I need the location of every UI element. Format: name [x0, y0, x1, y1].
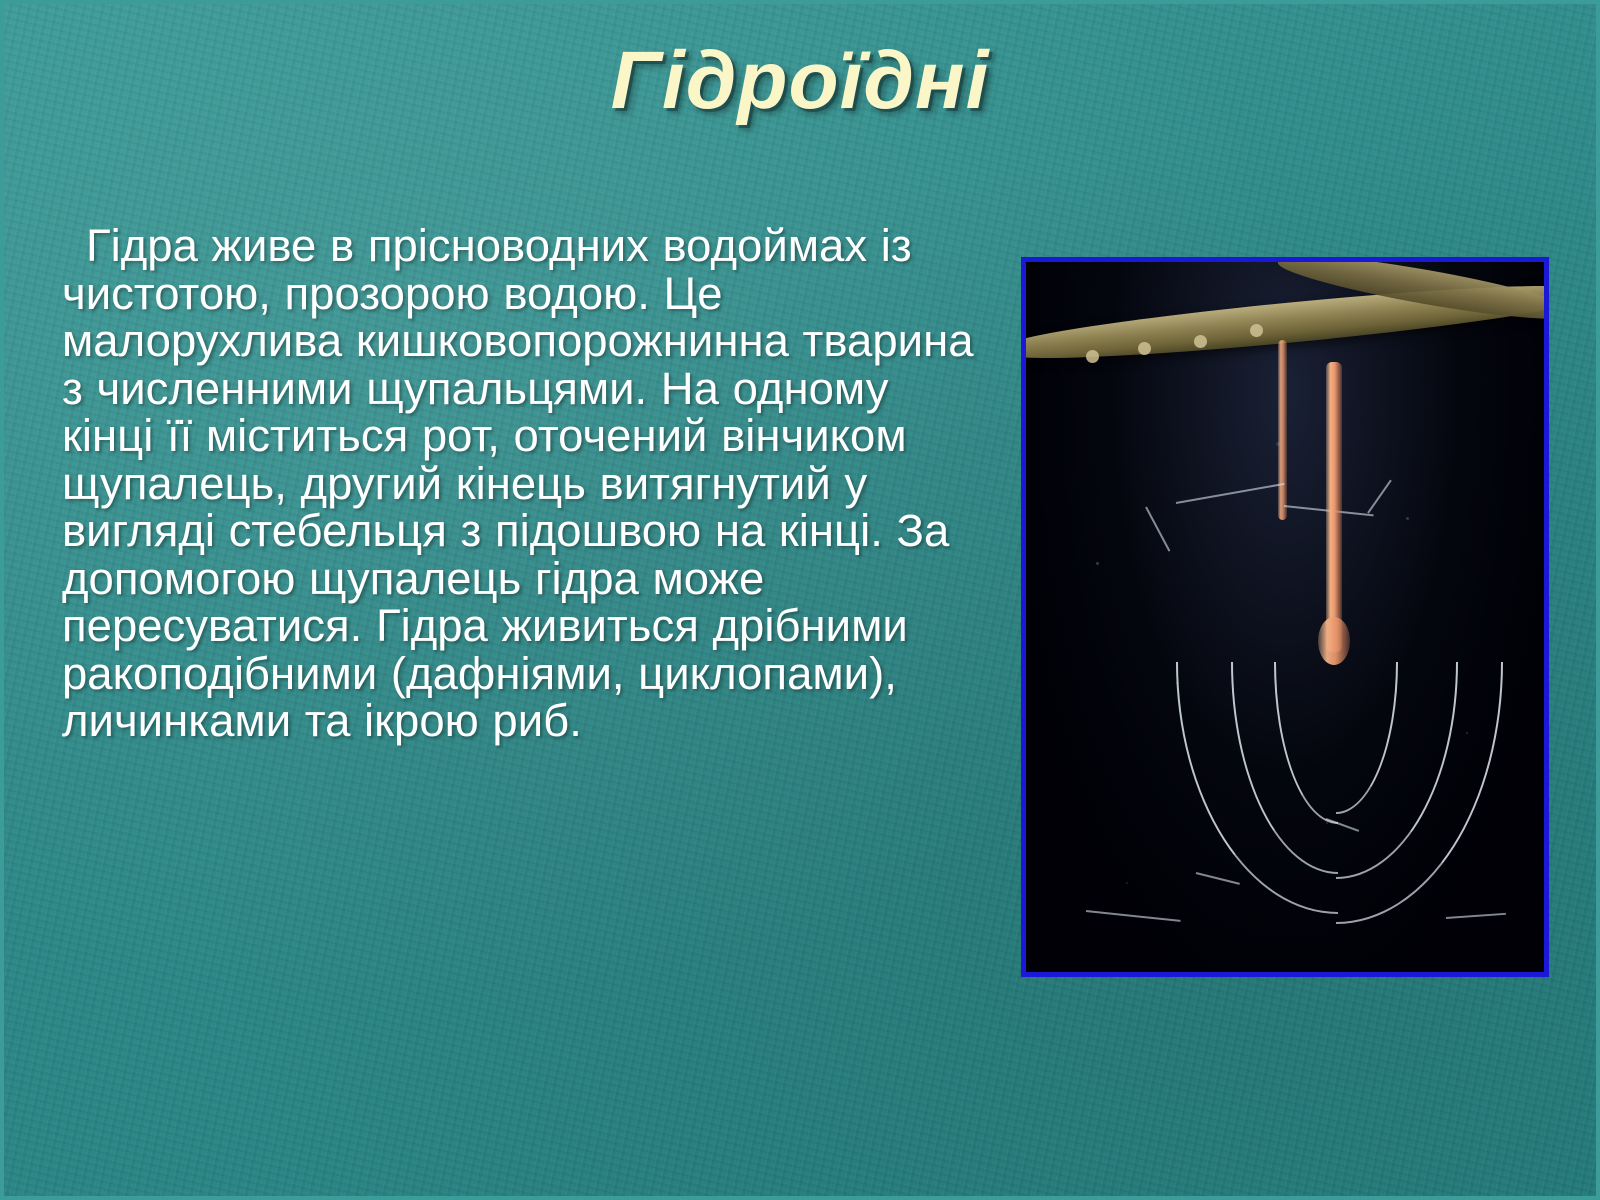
speck: [1126, 882, 1128, 884]
hydra-tentacle-tip: [1446, 913, 1506, 919]
hydra-photograph: [1026, 262, 1544, 972]
branch-nub: [1138, 342, 1151, 355]
hydra-main-base: [1318, 617, 1350, 665]
hydra-main-stalk: [1326, 362, 1342, 652]
presentation-slide: Гідроїдні Гідра живе в прісноводних водо…: [0, 0, 1600, 1200]
hydra-left-tentacle: [1145, 507, 1170, 552]
hydra-tentacle-tip: [1196, 872, 1240, 885]
hydra-tentacle: [1336, 662, 1503, 924]
hydra-left-tentacle: [1367, 480, 1392, 514]
branch-nub: [1086, 350, 1099, 363]
hydra-tentacle-tip: [1086, 910, 1181, 922]
speck: [1406, 517, 1409, 520]
page-title: Гідроїдні: [0, 34, 1600, 128]
hydra-left-tentacle: [1176, 483, 1285, 504]
hydra-left-stalk: [1278, 340, 1287, 520]
body-paragraph: Гідра живе в прісноводних водоймах із чи…: [62, 222, 992, 745]
speck: [1096, 562, 1099, 565]
hydra-photo-frame: [1021, 257, 1549, 977]
branch-nub: [1250, 324, 1263, 337]
branch-nub: [1194, 335, 1207, 348]
